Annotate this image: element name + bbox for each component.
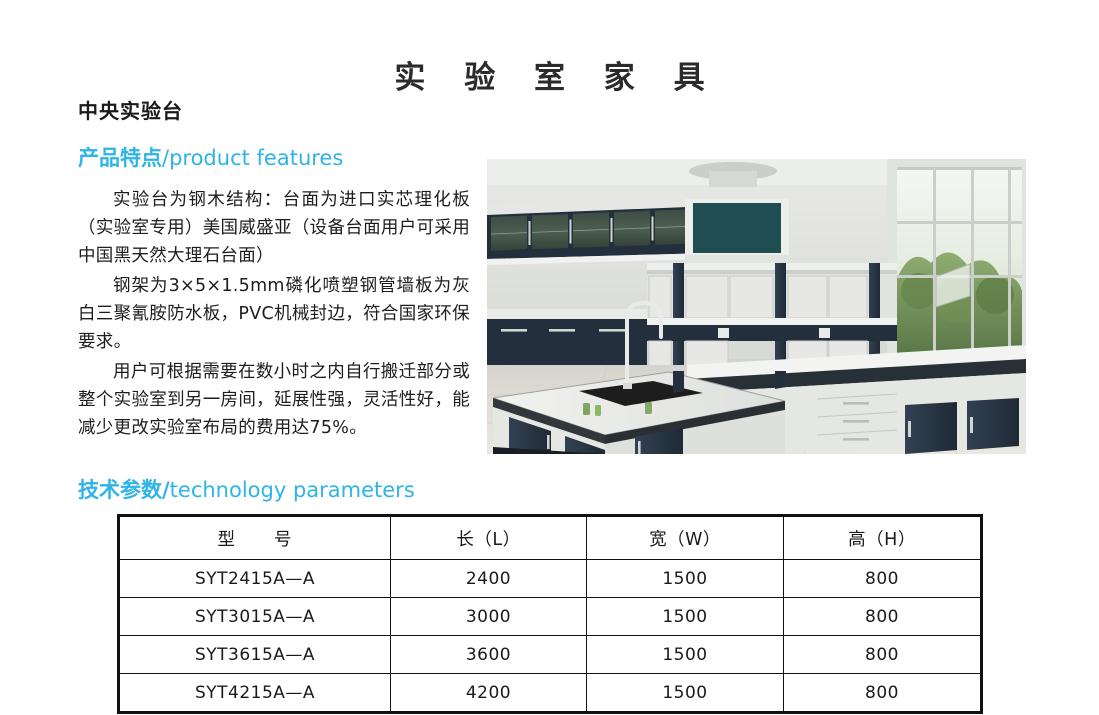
- cell-width: 1500: [587, 598, 784, 636]
- table-row: SYT4215A—A 4200 1500 800: [119, 674, 982, 713]
- cell-length: 3600: [391, 636, 587, 674]
- cell-model: SYT3615A—A: [119, 636, 391, 674]
- table-header-model-right: 号: [274, 530, 293, 550]
- feature-paragraph: 实验台为钢木结构：台面为进口实芯理化板（实验室专用）美国威盛亚（设备台面用户可采…: [78, 186, 470, 270]
- technology-parameters-heading-cn: 技术参数: [78, 478, 162, 502]
- cell-height: 800: [784, 560, 982, 598]
- table-header-length: 长（L）: [391, 516, 587, 560]
- specifications-table: 型号 长（L） 宽（W） 高（H） SYT2415A—A 2400 1500 8…: [117, 514, 983, 714]
- table-header-width: 宽（W）: [587, 516, 784, 560]
- cell-height: 800: [784, 598, 982, 636]
- technology-parameters-heading-separator: /: [162, 478, 170, 502]
- table-header-row: 型号 长（L） 宽（W） 高（H）: [119, 516, 982, 560]
- product-features-heading: 产品特点/product features: [78, 142, 470, 172]
- product-section-name: 中央实验台: [78, 95, 470, 124]
- product-features-heading-cn: 产品特点: [78, 146, 162, 170]
- specifications-table-container: 型号 长（L） 宽（W） 高（H） SYT2415A—A 2400 1500 8…: [117, 514, 980, 714]
- cell-height: 800: [784, 636, 982, 674]
- left-content-column: 中央实验台 产品特点/product features 实验台为钢木结构：台面为…: [78, 95, 470, 444]
- cell-model: SYT4215A—A: [119, 674, 391, 713]
- lab-bench-photo: [487, 159, 1026, 454]
- cell-height: 800: [784, 674, 982, 713]
- page-title: 实 验 室 家 具: [0, 52, 1099, 97]
- cell-width: 1500: [587, 674, 784, 713]
- table-header-model: 型号: [119, 516, 391, 560]
- table-row: SYT3615A—A 3600 1500 800: [119, 636, 982, 674]
- table-row: SYT2415A—A 2400 1500 800: [119, 560, 982, 598]
- technology-parameters-heading: 技术参数/technology parameters: [78, 474, 415, 504]
- product-features-heading-en: product features: [169, 146, 343, 170]
- cell-model: SYT3015A—A: [119, 598, 391, 636]
- cell-width: 1500: [587, 560, 784, 598]
- table-header-model-left: 型: [218, 530, 237, 550]
- cell-width: 1500: [587, 636, 784, 674]
- feature-paragraph: 钢架为3×5×1.5mm磷化喷塑钢管墙板为灰白三聚氰胺防水板，PVC机械封边，符…: [78, 272, 470, 356]
- cell-model: SYT2415A—A: [119, 560, 391, 598]
- lab-bench-photo-illustration: [487, 159, 1026, 454]
- cell-length: 2400: [391, 560, 587, 598]
- table-header-height: 高（H）: [784, 516, 982, 560]
- technology-parameters-heading-en: technology parameters: [170, 478, 415, 502]
- cell-length: 4200: [391, 674, 587, 713]
- product-features-body: 实验台为钢木结构：台面为进口实芯理化板（实验室专用）美国威盛亚（设备台面用户可采…: [78, 186, 470, 442]
- cell-length: 3000: [391, 598, 587, 636]
- table-row: SYT3015A—A 3000 1500 800: [119, 598, 982, 636]
- feature-paragraph: 用户可根据需要在数小时之内自行搬迁部分或整个实验室到另一房间，延展性强，灵活性好…: [78, 358, 470, 442]
